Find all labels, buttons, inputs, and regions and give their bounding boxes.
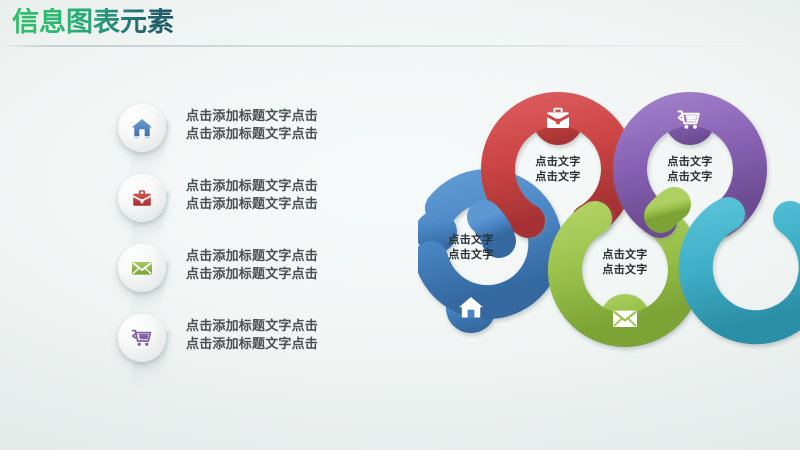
ring-purple-label: 点击文字 点击文字	[640, 154, 740, 184]
list-item-text: 点击添加标题文字点击 点击添加标题文字点击	[186, 108, 318, 144]
envelope-icon	[129, 255, 155, 281]
ring-blue-line1: 点击文字	[421, 232, 521, 247]
page-title: 信息图表元素	[12, 8, 174, 38]
left-list: 点击添加标题文字点击 点击添加标题文字点击	[118, 104, 383, 384]
envelope-icon	[613, 311, 637, 327]
ring-blue-line2: 点击文字	[421, 247, 521, 262]
list-item[interactable]: 点击添加标题文字点击 点击添加标题文字点击	[118, 104, 383, 174]
icon-disc	[118, 104, 166, 152]
ring-green-label: 点击文字 点击文字	[575, 247, 675, 277]
infographic-diagram: 点击文字 点击文字 点击文字 点击文字 点击文字 点击文字 点击文字 点击文字	[418, 92, 800, 382]
icon-disc-wrap	[118, 174, 166, 222]
ring-purple-line2: 点击文字	[640, 169, 740, 184]
ring-red-label: 点击文字 点击文字	[508, 154, 608, 184]
icon-disc-wrap	[118, 314, 166, 362]
icon-disc-wrap	[118, 104, 166, 152]
list-item-line2: 点击添加标题文字点击	[186, 266, 318, 284]
list-item-line1: 点击添加标题文字点击	[186, 318, 318, 336]
title-bar: 信息图表元素	[0, 0, 800, 46]
list-item[interactable]: 点击添加标题文字点击 点击添加标题文字点击	[118, 174, 383, 244]
icon-disc	[118, 314, 166, 362]
icon-disc	[118, 174, 166, 222]
list-item-line2: 点击添加标题文字点击	[186, 336, 318, 354]
ring-green-overlap	[661, 204, 674, 216]
list-item-line2: 点击添加标题文字点击	[186, 126, 318, 144]
list-item-line1: 点击添加标题文字点击	[186, 178, 318, 196]
briefcase-icon	[130, 186, 154, 210]
list-item-line1: 点击添加标题文字点击	[186, 248, 318, 266]
ring-green-line1: 点击文字	[575, 247, 675, 262]
list-item[interactable]: 点击添加标题文字点击 点击添加标题文字点击	[118, 244, 383, 314]
list-item-line2: 点击添加标题文字点击	[186, 196, 318, 214]
home-icon	[129, 115, 155, 141]
slide-canvas: 信息图表元素	[0, 0, 800, 450]
cart-icon	[129, 325, 155, 351]
ring-green-line2: 点击文字	[575, 262, 675, 277]
ring-blue-label: 点击文字 点击文字	[421, 232, 521, 262]
title-divider	[0, 45, 800, 47]
ring-red-line1: 点击文字	[508, 154, 608, 169]
icon-disc	[118, 244, 166, 292]
icon-disc-wrap	[118, 244, 166, 292]
list-item-text: 点击添加标题文字点击 点击添加标题文字点击	[186, 248, 318, 284]
list-item[interactable]: 点击添加标题文字点击 点击添加标题文字点击	[118, 314, 383, 384]
ring-teal[interactable]	[696, 214, 800, 327]
ring-red-line2: 点击文字	[508, 169, 608, 184]
list-item-line1: 点击添加标题文字点击	[186, 108, 318, 126]
list-item-text: 点击添加标题文字点击 点击添加标题文字点击	[186, 178, 318, 214]
ring-purple-line1: 点击文字	[640, 154, 740, 169]
list-item-text: 点击添加标题文字点击 点击添加标题文字点击	[186, 318, 318, 354]
